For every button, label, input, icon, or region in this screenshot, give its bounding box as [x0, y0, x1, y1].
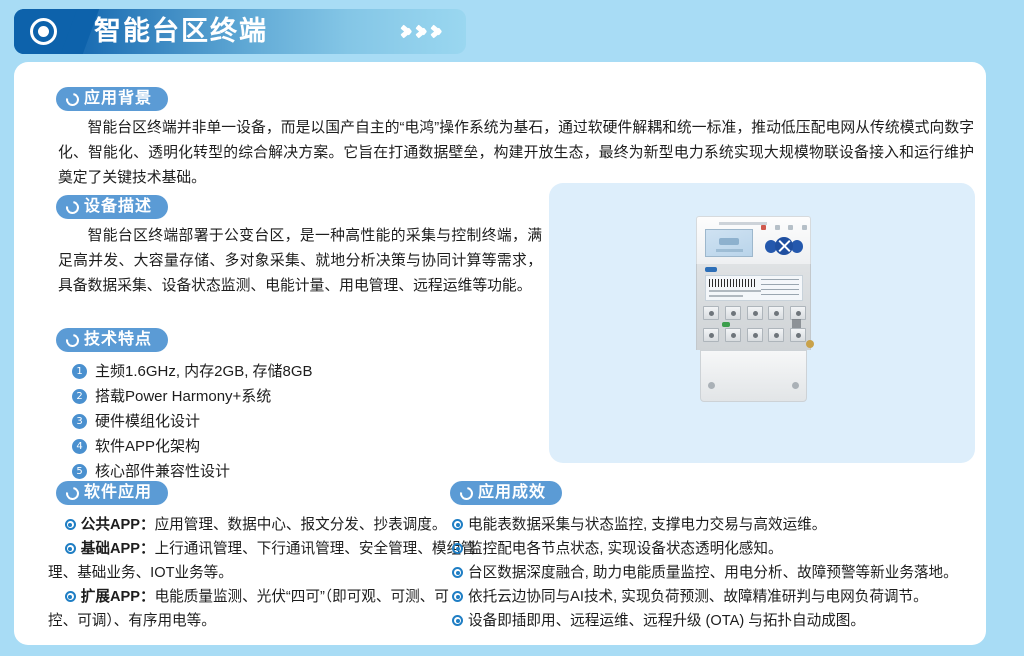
bullet-icon [452, 519, 463, 530]
list-number-badge: 5 [72, 464, 87, 479]
list-item: 扩展APP：电能质量监测、光伏“四可”（即可观、可测、可控、可调）、有序用电等。 [48, 585, 478, 633]
terminal-screw [725, 306, 741, 320]
list-item-label: 依托云边协同与AI技术, 实现负荷预测、故障精准研判与电网负荷调节。 [468, 589, 928, 605]
green-marker [722, 322, 730, 327]
device-terminal-housing [696, 264, 811, 350]
device-logo [705, 267, 717, 272]
nameplate-text-line [709, 290, 761, 292]
page-title-bar: 智能台区终端 [14, 9, 466, 54]
list-item-label: 电能表数据采集与状态监控, 支撑电力交易与高效运维。 [468, 517, 826, 533]
list-item: 台区数据深度融合, 助力电能质量监控、用电分析、故障预警等新业务落地。 [452, 561, 980, 585]
list-item-label: 搭载Power Harmony+系统 [95, 385, 271, 409]
chevron-right-icon [416, 20, 429, 43]
terminal-screw [768, 328, 784, 342]
list-item: 依托云边协同与AI技术, 实现负荷预测、故障精准研判与电网负荷调节。 [452, 585, 980, 609]
list-item: 2 搭载Power Harmony+系统 [72, 385, 313, 409]
list-item-label: 监控配电各节点状态, 实现设备状态透明化感知。 [468, 541, 783, 557]
page-title: 智能台区终端 [94, 9, 268, 54]
application-results-list: 电能表数据采集与状态监控, 支撑电力交易与高效运维。 监控配电各节点状态, 实现… [452, 513, 980, 633]
device-image-panel [549, 183, 975, 463]
bullet-icon [65, 519, 76, 530]
list-item-label: 主频1.6GHz, 内存2GB, 存储8GB [95, 360, 313, 384]
list-item: 3 硬件模组化设计 [72, 410, 313, 434]
nameplate-text-line [709, 295, 743, 297]
list-number-badge: 4 [72, 439, 87, 454]
refresh-circle-icon [457, 484, 475, 502]
chevron-right-icon [431, 20, 444, 43]
bullet-icon [65, 591, 76, 602]
refresh-circle-icon [63, 484, 81, 502]
device-nameplate-label [705, 275, 803, 301]
led-indicator [775, 225, 780, 230]
device-brand-text [719, 222, 767, 225]
refresh-circle-icon [63, 90, 81, 108]
chevron-right-icon [401, 20, 414, 43]
terminal-screw [790, 328, 806, 342]
terminal-block-top [703, 306, 806, 320]
bullet-icon [452, 543, 463, 554]
bullet-icon [452, 567, 463, 578]
refresh-circle-icon [63, 331, 81, 349]
warning-label-icon [792, 319, 801, 328]
device-terminal-cover [700, 350, 807, 402]
nameplate-spec-grid [761, 279, 799, 298]
section-header-label: 应用背景 [84, 91, 152, 107]
section-header-label: 技术特点 [84, 332, 152, 348]
section-header-application-results: 应用成效 [450, 481, 562, 505]
terminal-screw [790, 306, 806, 320]
list-item-title: 基础APP： [81, 541, 155, 557]
barcode [709, 279, 755, 287]
bullet-icon [65, 543, 76, 554]
list-item-label: 应用管理、数据中心、报文分发、抄表调度。 [155, 517, 447, 533]
list-item: 1 主频1.6GHz, 内存2GB, 存储8GB [72, 360, 313, 384]
device-lcd-screen [705, 229, 753, 257]
list-item: 4 软件APP化架构 [72, 435, 313, 459]
terminal-screw [747, 328, 763, 342]
terminal-screw [747, 306, 763, 320]
cover-screw [708, 382, 715, 389]
side-screw [806, 340, 814, 348]
cover-screw [792, 382, 799, 389]
led-indicator [788, 225, 793, 230]
list-item: 公共APP：应用管理、数据中心、报文分发、抄表调度。 [48, 513, 478, 537]
list-number-badge: 3 [72, 414, 87, 429]
device-description-paragraph: 智能台区终端部署于公变台区，是一种高性能的采集与控制终端，满足高并发、大容量存储… [58, 224, 542, 299]
refresh-circle-icon [63, 198, 81, 216]
section-header-background: 应用背景 [56, 87, 168, 111]
terminal-block-bottom [703, 328, 806, 342]
device-led-row [761, 225, 807, 230]
bullet-icon [452, 615, 463, 626]
list-item-title: 扩展APP： [81, 589, 155, 605]
chevron-right-icon-group [401, 20, 444, 43]
device-photo [696, 216, 811, 416]
target-icon [30, 18, 57, 45]
section-header-software-application: 软件应用 [56, 481, 168, 505]
terminal-screw [703, 306, 719, 320]
list-item-label: 台区数据深度融合, 助力电能质量监控、用电分析、故障预警等新业务落地。 [468, 565, 958, 581]
terminal-screw [768, 306, 784, 320]
section-header-label: 软件应用 [84, 485, 152, 501]
list-item: 监控配电各节点状态, 实现设备状态透明化感知。 [452, 537, 980, 561]
background-paragraph: 智能台区终端并非单一设备，而是以国产自主的“电鸿”操作系统为基石，通过软硬件解耦… [58, 116, 974, 191]
lcd-text-row [716, 249, 743, 252]
device-top-housing [696, 216, 811, 264]
list-number-badge: 2 [72, 389, 87, 404]
section-header-label: 应用成效 [478, 485, 546, 501]
section-header-label: 设备描述 [84, 199, 152, 215]
list-item-label: 硬件模组化设计 [95, 410, 200, 434]
section-header-technical-features: 技术特点 [56, 328, 168, 352]
technical-features-list: 1 主频1.6GHz, 内存2GB, 存储8GB 2 搭载Power Harmo… [72, 360, 313, 485]
list-item-label: 软件APP化架构 [95, 435, 200, 459]
lcd-glyph [719, 238, 739, 245]
led-indicator [761, 225, 766, 230]
list-number-badge: 1 [72, 364, 87, 379]
list-item: 电能表数据采集与状态监控, 支撑电力交易与高效运维。 [452, 513, 980, 537]
led-indicator [802, 225, 807, 230]
terminal-screw [703, 328, 719, 342]
list-item: 基础APP：上行通讯管理、下行通讯管理、安全管理、模组管理、基础业务、IOT业务… [48, 537, 478, 585]
list-item: 设备即插即用、远程运维、远程升级 (OTA) 与拓扑自动成图。 [452, 609, 980, 633]
list-item-title: 公共APP： [81, 517, 155, 533]
section-header-device-description: 设备描述 [56, 195, 168, 219]
list-item-label: 设备即插即用、远程运维、远程升级 (OTA) 与拓扑自动成图。 [468, 613, 865, 629]
device-navigation-pad [764, 236, 804, 257]
bullet-icon [452, 591, 463, 602]
software-application-list: 公共APP：应用管理、数据中心、报文分发、抄表调度。 基础APP：上行通讯管理、… [48, 513, 478, 633]
terminal-screw [725, 328, 741, 342]
